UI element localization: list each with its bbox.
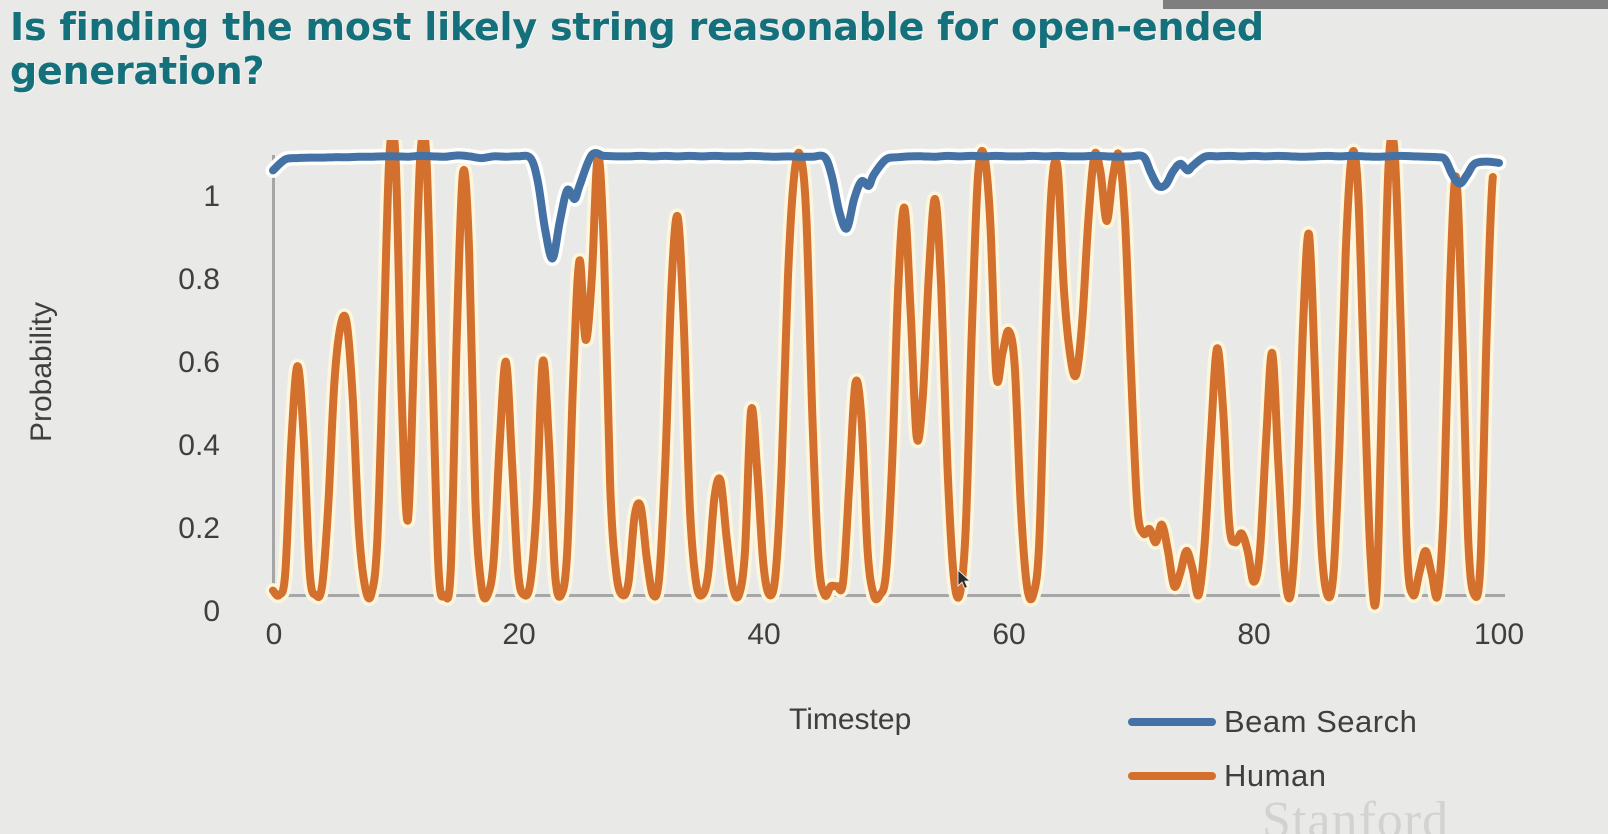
chart-legend: Beam Search Human (1128, 695, 1528, 803)
legend-item-beam-search[interactable]: Beam Search (1128, 695, 1528, 749)
legend-swatch-human (1128, 772, 1216, 780)
slide-canvas: Is finding the most likely string reason… (0, 0, 1608, 834)
legend-swatch-beam-search (1128, 718, 1216, 726)
slide-title: Is finding the most likely string reason… (10, 6, 1490, 93)
legend-label-beam-search: Beam Search (1224, 704, 1417, 740)
legend-label-human: Human (1224, 758, 1326, 794)
stanford-watermark: Stanford (1262, 791, 1449, 834)
mouse-pointer-icon (957, 569, 973, 591)
probability-chart: 1 0.8 0.6 0.4 0.2 0 0 20 40 60 80 100 Pr… (0, 140, 1608, 834)
